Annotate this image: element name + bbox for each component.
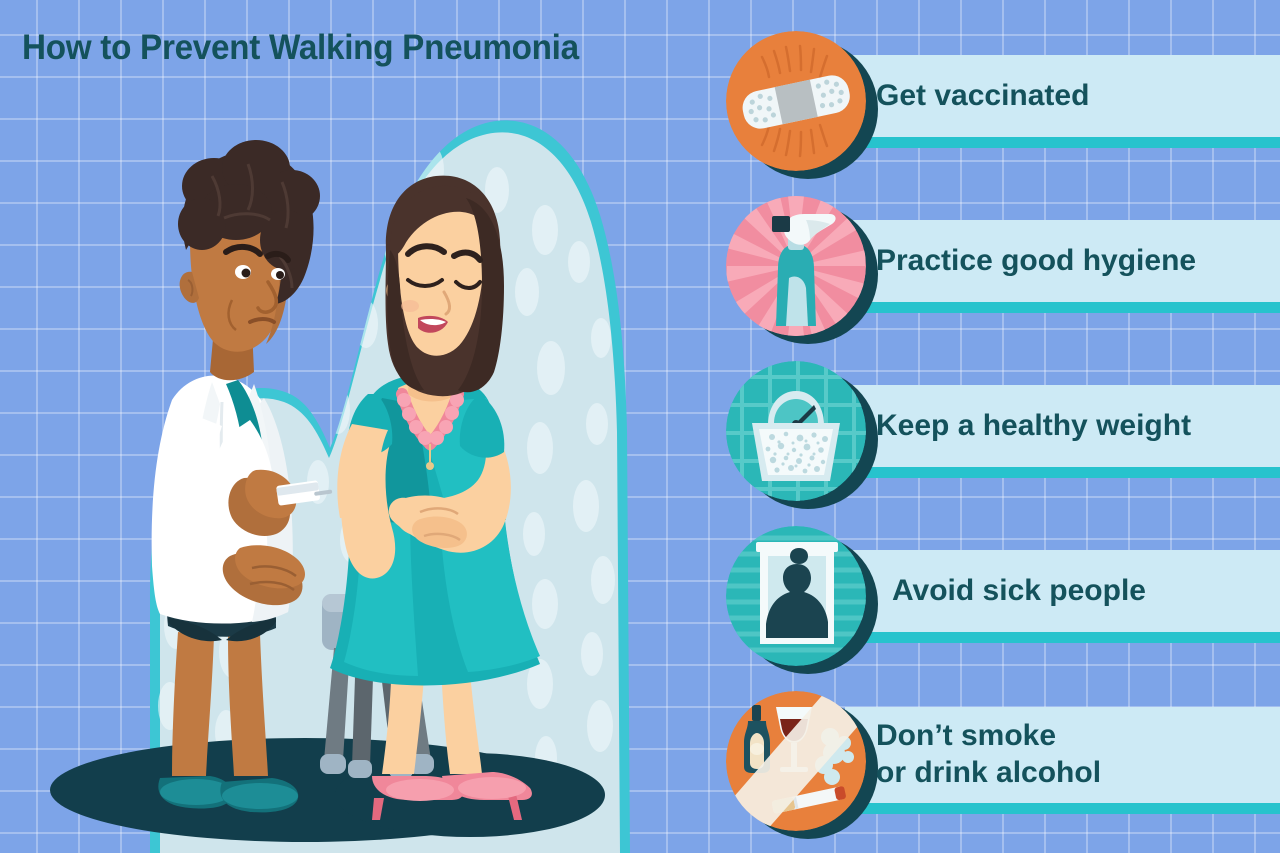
bandage-icon[interactable] [726,31,866,171]
weight-scale-icon[interactable] [726,361,866,501]
tip-icon-wrap [716,357,876,507]
tip-row-keep-a-healthy-weight[interactable]: Keep a healthy weight [700,352,1280,504]
tip-icon-wrap [716,687,876,837]
infographic-poster: How to Prevent Walking Pneumonia [0,0,1280,853]
no-smoking-no-alcohol-icon[interactable] [726,691,866,831]
tip-icon-wrap [716,192,876,342]
tip-panel-underline [845,467,1280,478]
tip-row-avoid-sick-people[interactable]: Avoid sick people [700,517,1280,669]
illustration-vaccination-scene [0,0,700,853]
tip-label: Keep a healthy weight [876,385,1191,467]
person-in-frame-icon[interactable] [726,526,866,666]
tip-row-practice-good-hygiene[interactable]: Practice good hygiene [700,187,1280,339]
tip-icon-wrap [716,522,876,672]
tip-icon-wrap [716,27,876,177]
tip-label: Get vaccinated [876,55,1089,137]
tip-label: Practice good hygiene [876,220,1196,302]
tip-panel-underline [845,302,1280,313]
tip-panel-underline [845,632,1280,643]
tip-panel-underline [845,137,1280,148]
tip-row-dont-smoke-or-drink-alcohol[interactable]: Don’t smoke or drink alcohol [700,682,1280,834]
spray-bottle-icon[interactable] [726,196,866,336]
tip-label: Avoid sick people [892,550,1146,632]
tip-label: Don’t smoke or drink alcohol [876,707,1101,803]
tip-row-get-vaccinated[interactable]: Get vaccinated [700,22,1280,174]
tip-panel-underline [845,803,1280,814]
prevention-tips-list: Get vaccinated [700,0,1280,853]
